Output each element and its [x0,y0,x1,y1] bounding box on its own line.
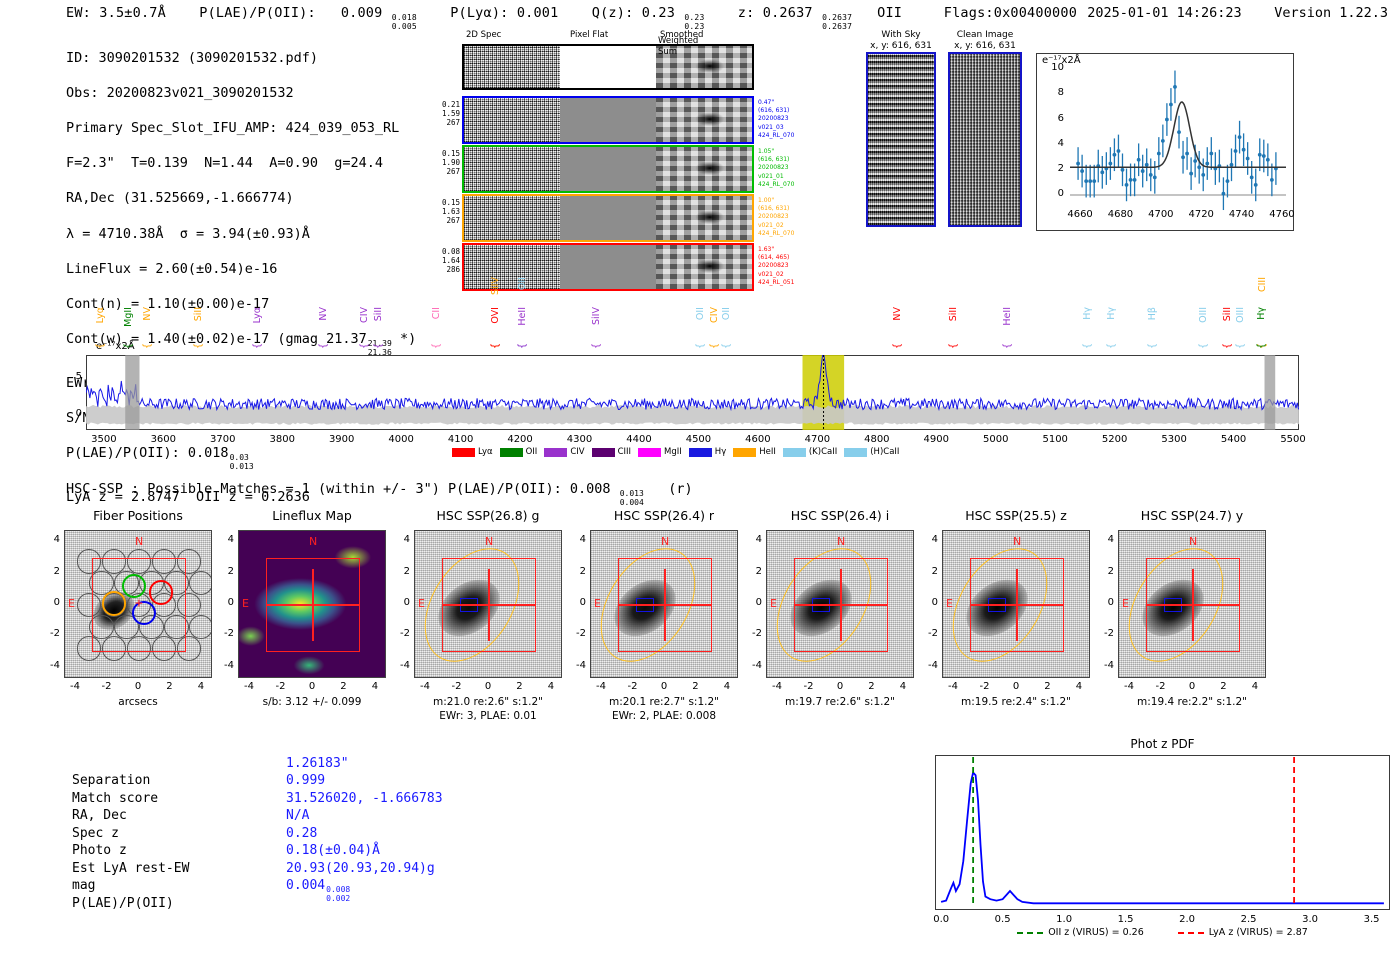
panel-xtick: 0 [824,681,856,692]
spec2d-row-stats: 0.15 1.63 267 [428,198,460,225]
panel-ytick: -4 [566,660,586,671]
spectral-line-brace: { [193,343,204,349]
timestamp: 2025-01-01 14:26:23 [1087,5,1241,21]
panel-xtick: 4 [1239,681,1271,692]
crosshair-vertical [840,569,841,641]
panel-xtick: -2 [1145,681,1177,692]
panel-ytick: 2 [742,566,762,577]
panel-xtick: 4 [711,681,743,692]
header-z-species: OII [877,5,902,21]
linefit-xtick: 4700 [1141,209,1181,220]
table-row-label: mag [72,877,95,895]
spectral-line-label: NV [892,307,903,321]
spec2d-montage: 2D Spec Pixel Flat Smoothed Weighted Sum… [462,32,754,292]
fullspec-xtick: 3500 [80,434,128,445]
fullspec-xtick: 5500 [1269,434,1317,445]
spectral-line-label: Hγ [1082,307,1093,320]
panel-xtick: -2 [617,681,649,692]
cutout-panel-title: HSC SSP(25.5) z [942,508,1090,523]
weighted-sum-label: Weighted Sum [658,36,698,58]
col-header-2dspec: 2D Spec [466,30,501,40]
panel-ytick: 0 [918,597,938,608]
legend-item: (H)CaII [844,447,899,457]
cutout-image[interactable]: NE [766,530,914,678]
weighted-sum-pixelflat [560,46,656,88]
fullspec-xtick: 5300 [1150,434,1198,445]
hsc-header-errors: 0.0130.004 [620,490,644,507]
panel-xtick: 2 [679,681,711,692]
fiber-circle[interactable] [189,571,212,595]
legend-label: OII [526,447,538,457]
linefit-xtick: 4680 [1100,209,1140,220]
cutout-image[interactable]: NE [238,530,386,678]
info-id: ID: 3090201532 (3090201532.pdf) [66,50,416,68]
spec2d-row-stats: 0.15 1.90 267 [428,149,460,176]
weighted-sum-row: Weighted Sum [462,44,754,90]
panel-ytick: 2 [918,566,938,577]
header-z-errors: 0.26370.2637 [822,14,852,31]
panel-ytick: 0 [1094,597,1114,608]
spec2d-smoothed [656,147,752,191]
spec2d-raw [464,196,560,240]
spec2d-pixelflat [560,98,656,142]
spec2d-row-meta: 1.05" (616, 631) 20200823 v021_01 424_RL… [758,148,794,189]
panel-xtick: -4 [1113,681,1145,692]
table-row-value: 0.28 [286,825,317,843]
crosshair-vertical [488,569,489,641]
fullspec-xtick: 4900 [912,434,960,445]
with-sky-coords: x, y: 616, 631 [866,41,936,52]
spec2d-raw [464,245,560,289]
table-row-label: Match score [72,790,158,808]
panel-xtick: 2 [503,681,535,692]
spectral-line-label: CIV [709,307,720,323]
legend-item: MgII [638,447,682,457]
panel-xtick: -2 [265,681,297,692]
header-timestamp-block: 2025-01-01 14:26:23 Version 1.22.3 [1087,5,1388,21]
photz-legend-item: LyA z (VIRUS) = 2.87 [1178,927,1308,938]
compass-north: N [485,535,493,548]
panel-xtick: -4 [761,681,793,692]
legend-swatch [638,448,661,457]
fiber-circle[interactable] [189,615,212,639]
spectral-line-brace: { [359,343,370,349]
cutout-panel-title: HSC SSP(24.7) y [1118,508,1266,523]
linefit-xtick: 4740 [1222,209,1262,220]
photz-pdf-chart: Phot z PDF 0.00.51.01.52.02.53.03.5 OII … [935,755,1390,910]
compass-north: N [661,535,669,548]
hsc-header-filter: (r) [668,481,692,497]
panel-xtick: 4 [887,681,919,692]
spectral-line-label: Hγ [1256,307,1267,320]
header-qz-errors: 0.230.23 [684,14,704,31]
linefit-xtick: 4720 [1181,209,1221,220]
cutout-image[interactable]: NE [590,530,738,678]
linefit-ytick: 0 [1034,188,1064,199]
spec2d-row: 0.15 1.63 2671.00" (616, 631) 20200823 v… [462,194,754,242]
table-row-label: P(LAE)/P(OII) [72,895,174,913]
spec2d-smoothed [656,245,752,289]
spec2d-row-meta: 0.47" (616, 631) 20200823 v021_03 424_RL… [758,99,794,140]
spectral-line-brace: { [948,343,959,349]
panel-ytick: -2 [566,628,586,639]
panel-xtick: -2 [91,681,123,692]
panel-xtick: -2 [441,681,473,692]
spec2d-raw [464,98,560,142]
compass-north: N [1189,535,1197,548]
legend-swatch [544,448,567,457]
spectral-line-brace: { [123,343,134,349]
spec2d-row: 0.15 1.90 2671.05" (616, 631) 20200823 v… [462,145,754,193]
panel-xtick: 2 [327,681,359,692]
spectral-line-label: HeII [517,307,528,326]
spectral-line-label: SiII [373,307,384,321]
spectral-line-brace: { [1147,343,1158,349]
panel-ytick: 4 [390,534,410,545]
fullspec-xtick: 5200 [1091,434,1139,445]
fullspec-xtick: 5100 [1031,434,1079,445]
fullspec-xtick: 4800 [853,434,901,445]
photz-legend-item: OII z (VIRUS) = 0.26 [1017,927,1144,938]
legend-label: CIII [618,447,631,457]
panel-ytick: 0 [40,597,60,608]
photz-xtick: 2.5 [1229,914,1269,925]
photz-xtick: 1.0 [1044,914,1084,925]
panel-xtick: -4 [233,681,265,692]
panel-ytick: 4 [742,534,762,545]
panel-xtick: 0 [648,681,680,692]
table-row-label: RA, Dec [72,807,127,825]
panel-xtick: -4 [585,681,617,692]
panel-ytick: -2 [918,628,938,639]
legend-label: Hγ [715,447,726,457]
legend-swatch [783,448,806,457]
table-row-label: Photo z [72,842,127,860]
object-info-block: ID: 3090201532 (3090201532.pdf) Obs: 202… [66,32,416,524]
legend-item: Lyα [452,447,493,457]
cutout-panel-title: HSC SSP(26.8) g [414,508,562,523]
spectral-line-brace: { [709,343,720,349]
spectral-line-label: OII [695,307,706,320]
cutout-panel-title: HSC SSP(26.4) r [590,508,738,523]
panel-ytick: 2 [214,566,234,577]
header-plya: P(Lyα): 0.001 [450,5,558,21]
header-plae-value: 0.009 [341,5,383,21]
spectral-line-label: Lyα [95,307,106,323]
cutout-image[interactable]: NE [1118,530,1266,678]
legend-item: OII [500,447,538,457]
compass-east: E [68,597,75,610]
linefit-ytick: 8 [1034,87,1064,98]
spectral-line-brace: { [517,343,528,349]
spectral-line-brace: { [142,343,153,349]
panel-xtick: -4 [937,681,969,692]
legend-label: MgII [664,447,682,457]
photz-xtick: 1.5 [1106,914,1146,925]
spectral-line-brace: { [1002,343,1013,349]
version-label: Version 1.22.3 [1274,5,1388,21]
panel-ytick: -4 [214,660,234,671]
fullspec-xtick: 3900 [318,434,366,445]
panel-xtick: 4 [535,681,567,692]
legend-item: Hγ [689,447,726,457]
linefit-ytick: 2 [1034,163,1064,174]
spec2d-row: 0.08 1.64 2861.63" (614, 465) 20200823 v… [462,243,754,291]
with-sky-image [866,52,936,227]
fullspec-xtick: 4500 [674,434,722,445]
spectral-line-brace: { [1256,343,1267,349]
spectral-line-brace: { [373,343,384,349]
spectral-line-label: OVI [490,307,501,324]
spectral-line-label: SiII [193,307,204,321]
table-row-label: Separation [72,772,150,790]
panel-xtick: 4 [359,681,391,692]
fullspec-xtick: 3600 [139,434,187,445]
clean-image-title: Clean Image [948,30,1022,41]
compass-east: E [242,597,249,610]
panel-caption-1: m:19.4 re:2.2" s:1.2" [1081,696,1303,708]
compass-north: N [135,535,143,548]
spectral-line-label: OII [721,307,732,320]
panel-xtick: -4 [409,681,441,692]
fullspec-xtick: 5000 [972,434,1020,445]
header-flags: Flags:0x00400000 [944,5,1077,21]
cutout-panel-title: Fiber Positions [64,508,212,523]
compass-north: N [309,535,317,548]
panel-ytick: 4 [918,534,938,545]
info-obs: Obs: 20200823v021_3090201532 [66,85,416,103]
fullspec-ytick: 5 [62,371,82,382]
spectral-line-label: Lyα [252,307,263,323]
crosshair-vertical [1016,569,1017,641]
crosshair-vertical [664,569,665,641]
panel-ytick: -2 [1094,628,1114,639]
panel-xtick: 2 [153,681,185,692]
crosshair-vertical [1192,569,1193,641]
spectrum-legend: LyαOIICIVCIIIMgIIHγHeII(K)CaII(H)CaII [452,447,899,457]
table-row-value: 0.999 [286,772,325,790]
panel-xtick: -2 [793,681,825,692]
panel-ytick: -2 [742,628,762,639]
panel-xtick: 0 [472,681,504,692]
spectral-line-brace: { [95,343,106,349]
photz-xtick: 3.0 [1290,914,1330,925]
linefit-ytick: 10 [1034,62,1064,73]
info-primary-spec: Primary Spec_Slot_IFU_AMP: 424_039_053_R… [66,120,416,138]
compass-east: E [770,597,777,610]
spectral-line-label: OIII [1198,307,1209,323]
header-plae-label: P(LAE)/P(OII): [199,5,316,21]
cutout-image[interactable]: NE [942,530,1090,678]
fullspec-xtick: 3700 [199,434,247,445]
hsc-ssp-header: HSC-SSP : Possible Matches = 1 (within +… [66,481,693,507]
panel-xtick: 2 [855,681,887,692]
clean-image-pixels [948,52,1022,227]
spectral-line-label: SiII [1222,307,1233,321]
spec2d-pixelflat [560,245,656,289]
spec2d-pixelflat [560,147,656,191]
spec2d-row: 0.21 1.59 2670.47" (616, 631) 20200823 v… [462,96,754,144]
spectral-line-brace: { [490,343,501,349]
cutout-image[interactable]: +NE [64,530,212,678]
info-lineflux: LineFlux = 2.60(±0.54)e-16 [66,261,416,279]
panel-ytick: -4 [40,660,60,671]
spectral-line-label: OIII [1235,307,1246,323]
panel-xtick: 2 [1031,681,1063,692]
spec2d-raw [464,147,560,191]
photz-legend-swatch [1178,932,1204,934]
header-ew: EW: 3.5±0.7Å [66,5,166,21]
spectral-line-label: SiIV [490,277,501,295]
table-row-label: Est LyA rest-EW [72,860,189,878]
fullspec-xtick: 4700 [793,434,841,445]
table-row-value: N/A [286,807,309,825]
panel-xtick: 0 [1176,681,1208,692]
linefit-ytick: 4 [1034,138,1064,149]
weighted-sum-2dspec [464,46,560,88]
spec2d-row-meta: 1.63" (614, 465) 20200823 v021_02 424_RL… [758,246,794,287]
legend-item: CIV [544,447,584,457]
linefit-xtick: 4760 [1262,209,1302,220]
panel-ytick: 0 [566,597,586,608]
with-sky-title: With Sky [866,30,936,41]
legend-item: HeII [733,447,776,457]
panel-ytick: 2 [390,566,410,577]
panel-ytick: 2 [1094,566,1114,577]
panel-xtick: 4 [185,681,217,692]
fullspec-xtick: 4400 [615,434,663,445]
spec2d-pixelflat [560,196,656,240]
panel-ytick: 4 [1094,534,1114,545]
spectral-line-brace: { [892,343,903,349]
fullspec-xtick: 4100 [437,434,485,445]
panel-ytick: 0 [742,597,762,608]
legend-swatch [500,448,523,457]
cutout-panel-title: HSC SSP(26.4) i [766,508,914,523]
table-row-value: 1.26183" [286,755,349,773]
table-row-label: Spec z [72,825,119,843]
legend-swatch [733,448,756,457]
panel-ytick: 2 [566,566,586,577]
full-spectrum-chart: e⁻¹⁷x2Å 05 35003600370038003900400041004… [86,355,1299,430]
legend-label: (K)CaII [809,447,837,457]
panel-xtick: 4 [1063,681,1095,692]
legend-label: (H)CaII [870,447,899,457]
legend-item: CIII [592,447,631,457]
panel-xtick: 0 [296,681,328,692]
legend-swatch [844,448,867,457]
panel-ytick: 0 [214,597,234,608]
spectral-line-label: CIV [359,307,370,323]
spectral-line-label: Hβ [1147,307,1158,320]
clean-image-coords: x, y: 616, 631 [948,41,1022,52]
panel-ytick: -2 [390,628,410,639]
panel-ytick: -4 [918,660,938,671]
panel-ytick: 4 [566,534,586,545]
legend-label: HeII [759,447,776,457]
compass-north: N [837,535,845,548]
legend-label: CIV [570,447,584,457]
compass-north: N [1013,535,1021,548]
spectral-line-brace: { [695,343,706,349]
fullspec-xtick: 4200 [496,434,544,445]
panel-xtick: 0 [122,681,154,692]
legend-swatch [452,448,475,457]
panel-ytick: -4 [390,660,410,671]
photz-xtick: 0.5 [983,914,1023,925]
photz-title: Phot z PDF [935,737,1390,751]
spectral-line-label: NV [318,307,329,321]
table-row-value: 0.0040.0080.002 [286,877,350,903]
panel-xtick: 2 [1207,681,1239,692]
panel-ytick: -4 [1094,660,1114,671]
spectral-line-label: SiIV [591,307,602,325]
spectral-line-brace: { [1222,343,1233,349]
fov-box [92,558,186,652]
panel-ytick: 4 [40,534,60,545]
spectral-line-label: OII [517,277,528,290]
panel-ytick: -2 [40,628,60,639]
header-plae-errors: 0.0180.005 [392,14,417,31]
spectral-line-label: CII [431,307,442,319]
crosshair-vertical [312,569,313,641]
legend-item: (K)CaII [783,447,837,457]
fullspec-ytick: 0 [62,408,82,419]
panel-ytick: 4 [214,534,234,545]
hsc-header-main: HSC-SSP : Possible Matches = 1 (within +… [66,481,611,497]
header-qz: Q(z): 0.23 [592,5,675,21]
header-z: z: 0.2637 [738,5,813,21]
spectral-line-brace: { [1198,343,1209,349]
cutout-image[interactable]: NE [414,530,562,678]
compass-east: E [418,597,425,610]
compass-east: E [1122,597,1129,610]
panel-caption-2: EWr: 2, PLAE: 0.008 [553,710,775,722]
panel-xtick: 0 [1000,681,1032,692]
spectral-line-label: HeII [1002,307,1013,326]
photz-xtick: 2.0 [1167,914,1207,925]
photz-xtick: 3.5 [1352,914,1392,925]
info-wavelength: λ = 4710.38Å σ = 3.94(±0.93)Å [66,226,416,244]
fullspec-xtick: 4300 [556,434,604,445]
panel-xtick: -2 [969,681,1001,692]
spectral-line-brace: { [431,343,442,349]
panel-xtick: -4 [59,681,91,692]
photz-legend-label: OII z (VIRUS) = 0.26 [1048,927,1144,938]
spectral-line-label: MgII [123,307,134,327]
clean-image-cutout: Clean Image x, y: 616, 631 [948,30,1022,227]
info-seeing: F=2.3" T=0.139 N=1.44 A=0.90 g=24.4 [66,155,416,173]
legend-label: Lyα [478,447,493,457]
panel-ytick: 2 [40,566,60,577]
table-row-value: 0.18(±0.04)Å [286,842,380,860]
spec2d-smoothed [656,196,752,240]
emission-line-fit-chart: e⁻¹⁷x2Å 0246810 466046804700472047404760 [1036,53,1294,231]
cutout-panel-title: Lineflux Map [238,508,386,523]
legend-swatch [689,448,712,457]
panel-ytick: -2 [214,628,234,639]
fullspec-xtick: 5400 [1210,434,1258,445]
panel-ytick: -4 [742,660,762,671]
table-row-value: 20.93(20.93,20.94)g [286,860,435,878]
spec2d-row-meta: 1.00" (616, 631) 20200823 v021_02 424_RL… [758,197,794,238]
fullspec-xtick: 3800 [258,434,306,445]
legend-swatch [592,448,615,457]
photz-legend-swatch [1017,932,1043,934]
col-header-pixelflat: Pixel Flat [570,30,608,40]
panel-ytick: 0 [390,597,410,608]
spectral-line-label: Hγ [1106,307,1117,320]
